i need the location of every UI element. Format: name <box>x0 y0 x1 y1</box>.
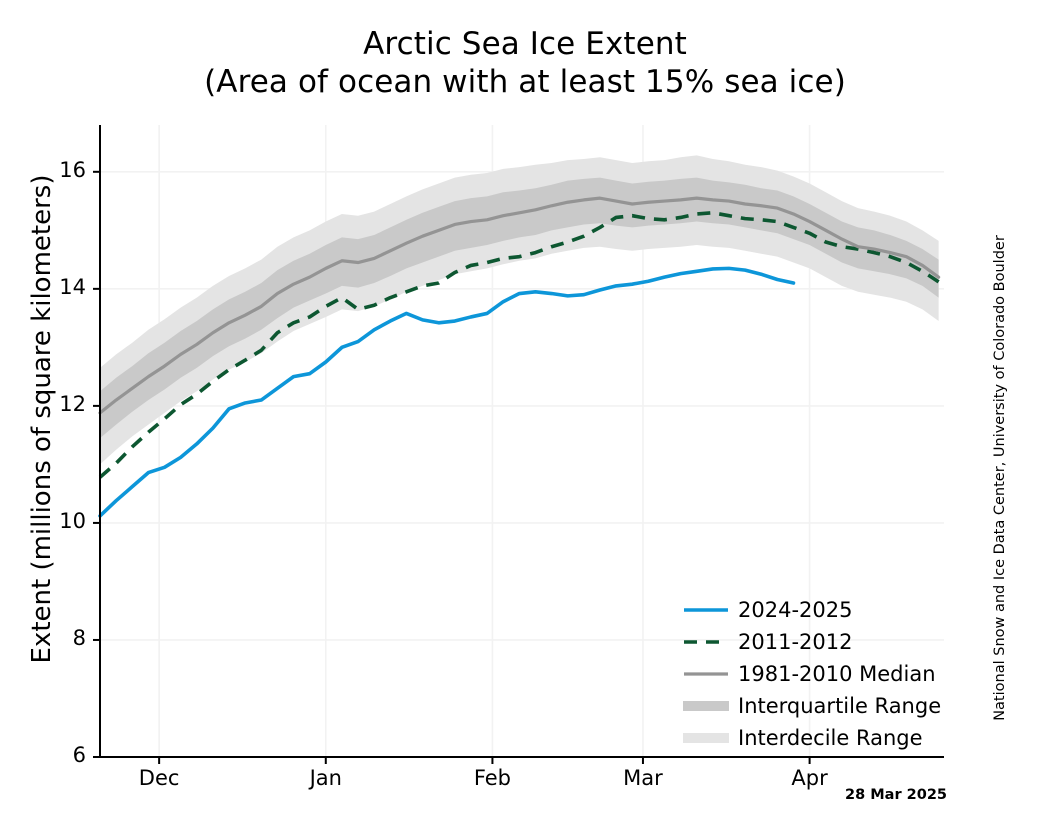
legend-item[interactable]: Interdecile Range <box>683 722 941 754</box>
legend-swatch-icon <box>683 631 729 653</box>
x-axis-tick-label: Jan <box>266 766 386 790</box>
x-axis-tick-label: Feb <box>432 766 552 790</box>
y-axis-tick-label: 14 <box>0 275 86 299</box>
legend-label: 2024-2025 <box>738 600 852 621</box>
legend-swatch-icon <box>683 663 729 685</box>
chart-page: Arctic Sea Ice Extent (Area of ocean wit… <box>0 0 1050 840</box>
legend-label: 1981-2010 Median <box>738 664 936 685</box>
x-axis-tick-label: Apr <box>750 766 870 790</box>
legend-label: 2011-2012 <box>738 632 852 653</box>
legend-swatch-icon <box>683 695 729 717</box>
legend-swatch-icon <box>683 599 729 621</box>
x-axis-tick-label: Mar <box>583 766 703 790</box>
y-axis-tick-label: 12 <box>0 392 86 416</box>
legend-label: Interdecile Range <box>738 728 923 749</box>
y-axis-tick-label: 10 <box>0 509 86 533</box>
y-axis-tick-label: 16 <box>0 158 86 182</box>
legend-item[interactable]: 1981-2010 Median <box>683 658 941 690</box>
legend-swatch-icon <box>683 727 729 749</box>
y-axis-tick-label: 6 <box>0 743 86 767</box>
legend-item[interactable]: 2011-2012 <box>683 626 941 658</box>
x-axis-tick-label: Dec <box>99 766 219 790</box>
legend-item[interactable]: 2024-2025 <box>683 594 941 626</box>
credit-text: National Snow and Ice Data Center, Unive… <box>992 218 1008 738</box>
legend-item[interactable]: Interquartile Range <box>683 690 941 722</box>
legend-label: Interquartile Range <box>738 696 941 717</box>
y-axis-tick-label: 8 <box>0 626 86 650</box>
chart-legend: 2024-20252011-20121981-2010 MedianInterq… <box>683 594 941 754</box>
